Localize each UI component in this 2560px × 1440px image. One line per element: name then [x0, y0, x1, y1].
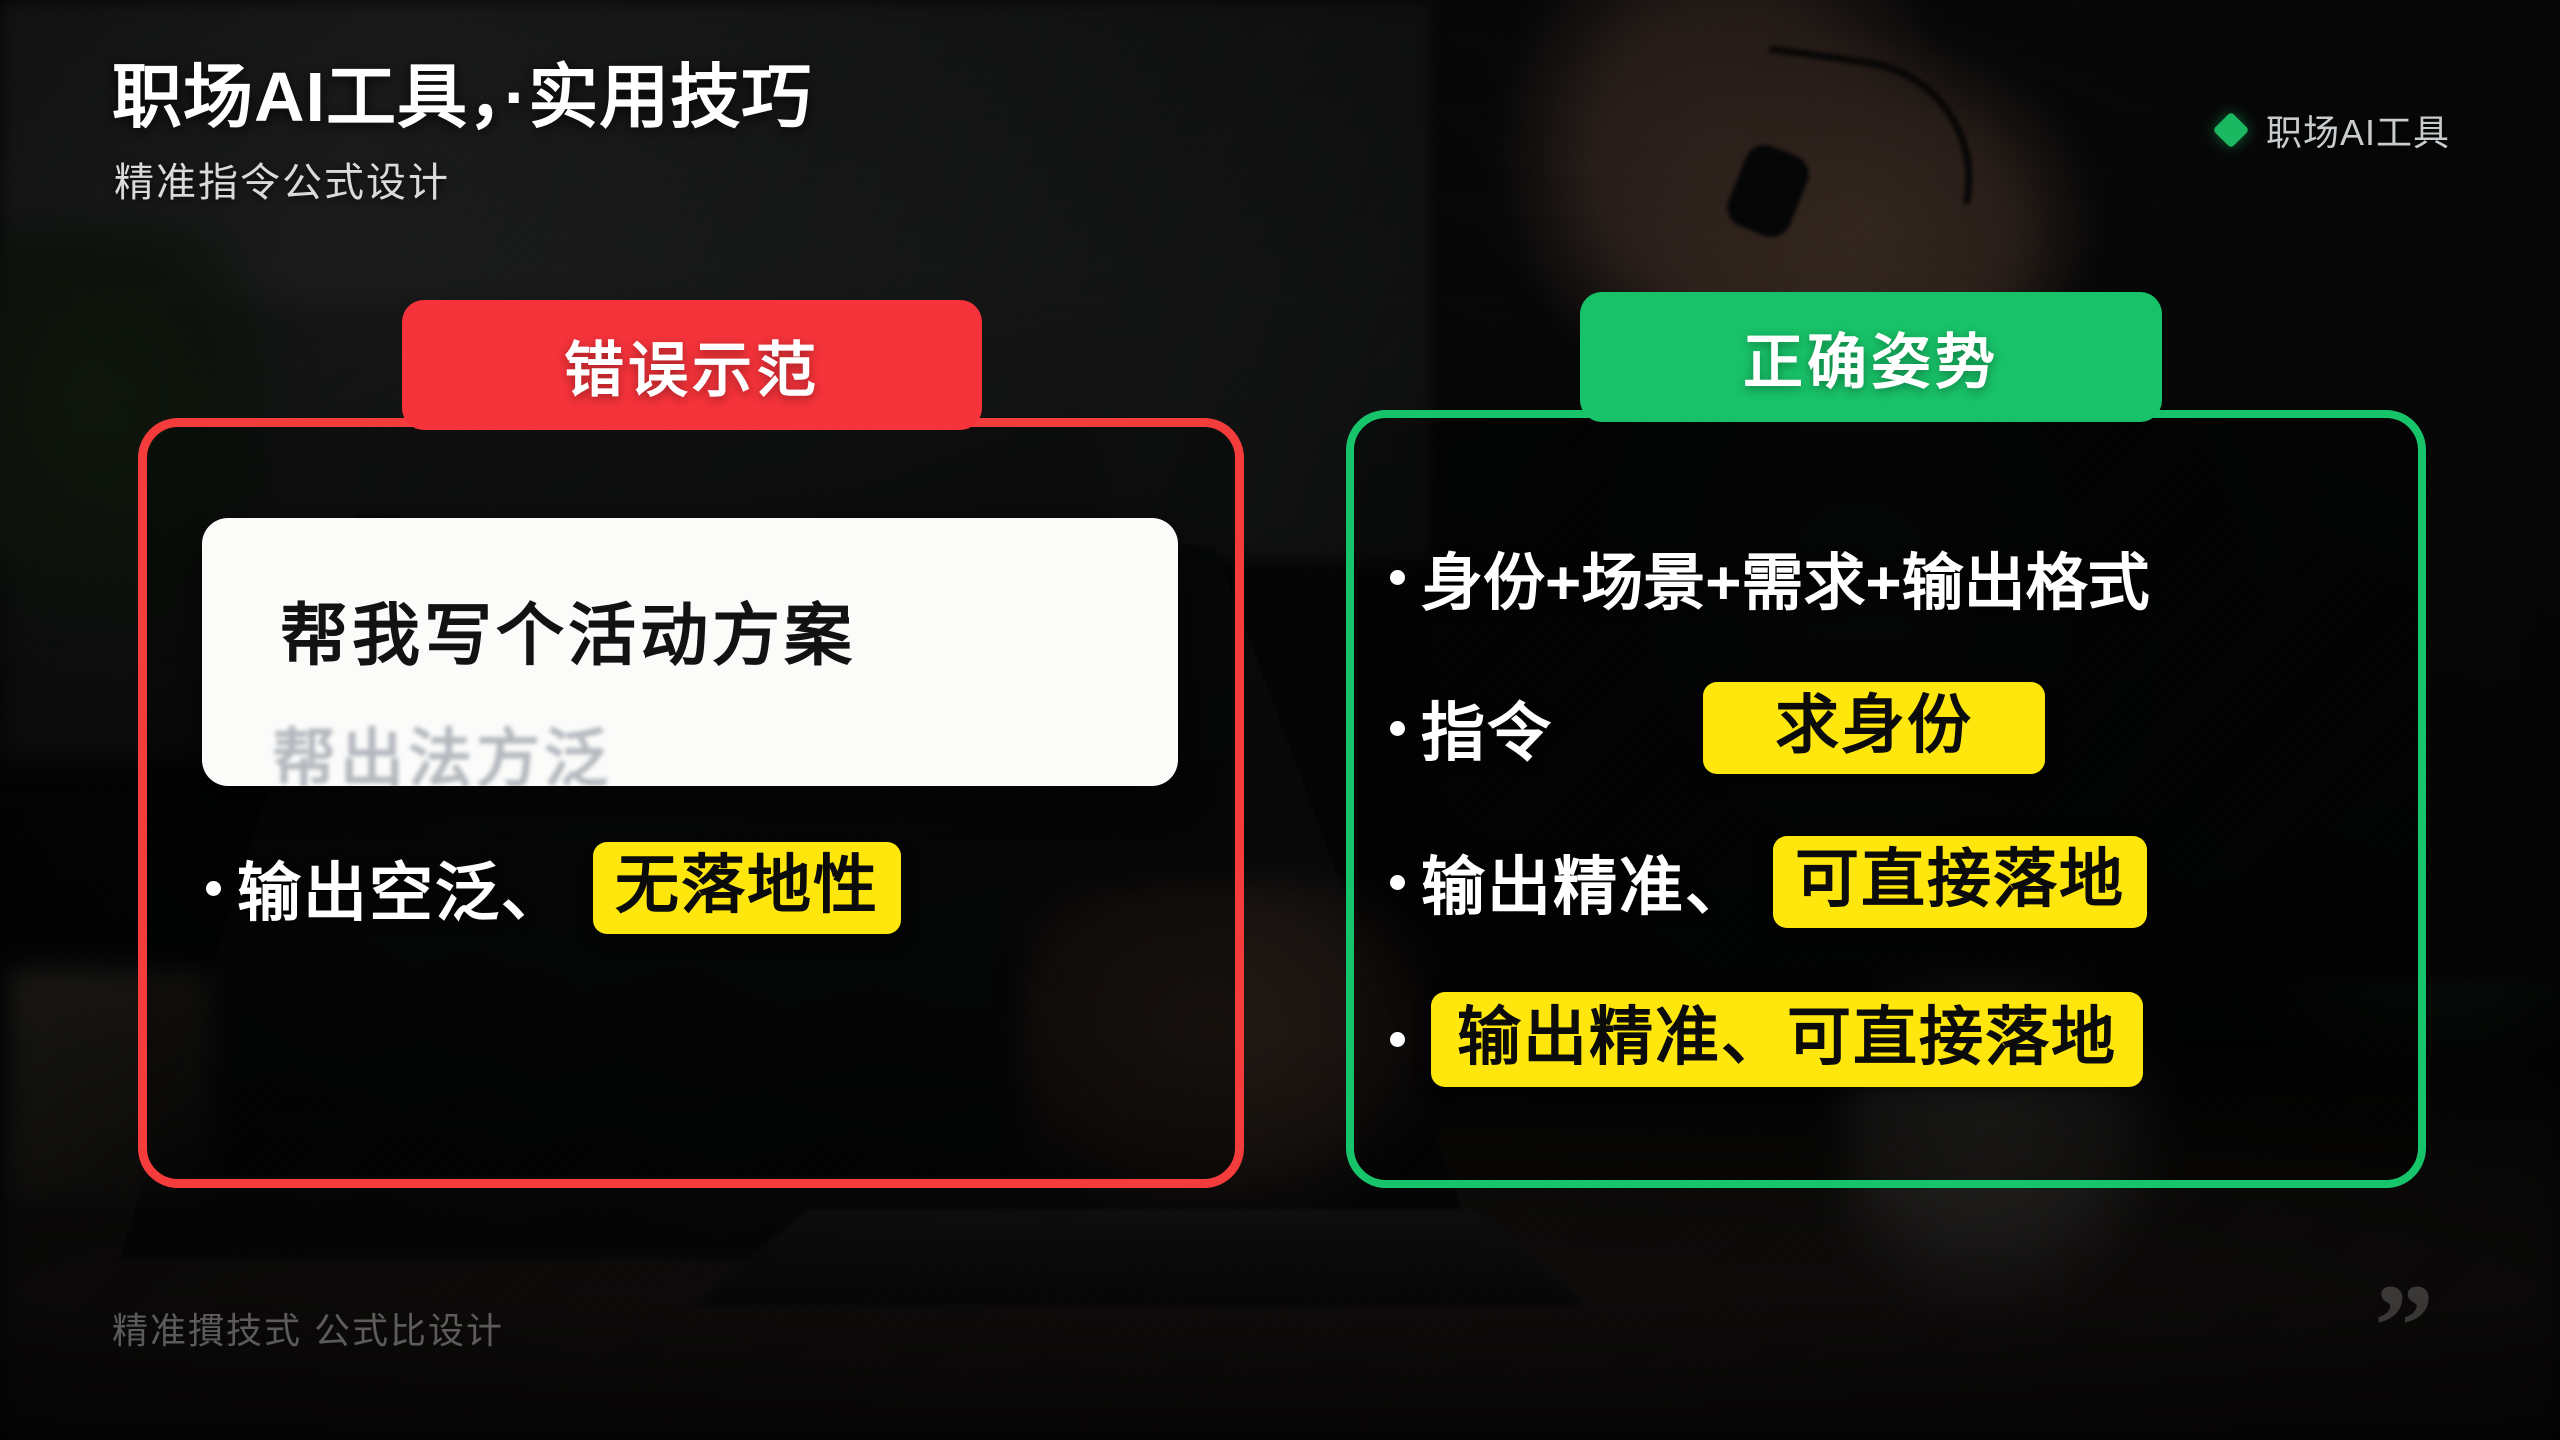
bullet-dot-icon — [1390, 721, 1405, 736]
brand-tag: 职场AI工具 — [2218, 104, 2450, 156]
badge-bad-example: 错误示范 — [402, 300, 982, 430]
prompt-ghost-text: 帮出法方泛 — [272, 708, 612, 786]
slide-canvas: 职场AI工具，·实用技巧 精准指令公式设计 职场AI工具 错误示范 帮我写个活动… — [0, 0, 2560, 1440]
bullet-good-2-text: 指令 — [1421, 682, 1553, 774]
bullet-good-4: 输出精准、可直接落地 — [1390, 992, 2143, 1087]
bullet-good-4-highlight: 输出精准、可直接落地 — [1431, 992, 2143, 1087]
bullet-good-3-highlight: 可直接落地 — [1773, 836, 2147, 927]
bullet-good-2: 指令 求身份 — [1390, 682, 2045, 774]
bullet-bad-1-highlight: 无落地性 — [593, 842, 901, 933]
bullet-dot-icon — [1390, 875, 1405, 890]
badge-good-example: 正确姿势 — [1580, 292, 2162, 422]
bullet-bad-1: 输出空泛、 无落地性 — [206, 842, 901, 934]
quote-mark-icon: ” — [2374, 1290, 2434, 1362]
page-subtitle: 精准指令公式设计 — [114, 150, 812, 208]
prompt-main-text: 帮我写个活动方案 — [280, 580, 856, 679]
header: 职场AI工具，·实用技巧 精准指令公式设计 — [112, 58, 812, 208]
page-title: 职场AI工具，·实用技巧 — [112, 58, 812, 136]
bullet-good-1: 身份+场景+需求+输出格式 — [1390, 532, 2150, 622]
bullet-dot-icon — [1390, 1032, 1405, 1047]
bullet-good-3-text: 输出精准、 — [1421, 836, 1751, 928]
bullet-good-2-highlight: 求身份 — [1703, 682, 2045, 773]
green-diamond-icon — [2213, 112, 2250, 149]
bullet-good-3: 输出精准、 可直接落地 — [1390, 836, 2147, 928]
prompt-screenshot-box: 帮我写个活动方案 帮出法方泛 — [202, 518, 1178, 786]
bullet-bad-1-text: 输出空泛、 — [237, 842, 567, 934]
bullet-dot-icon — [1390, 570, 1405, 585]
bullet-dot-icon — [206, 881, 221, 896]
brand-label: 职场AI工具 — [2266, 104, 2450, 156]
footer-note: 精准摜技式 公式比设计 — [112, 1302, 504, 1354]
bullet-good-1-text: 身份+场景+需求+输出格式 — [1421, 532, 2150, 622]
